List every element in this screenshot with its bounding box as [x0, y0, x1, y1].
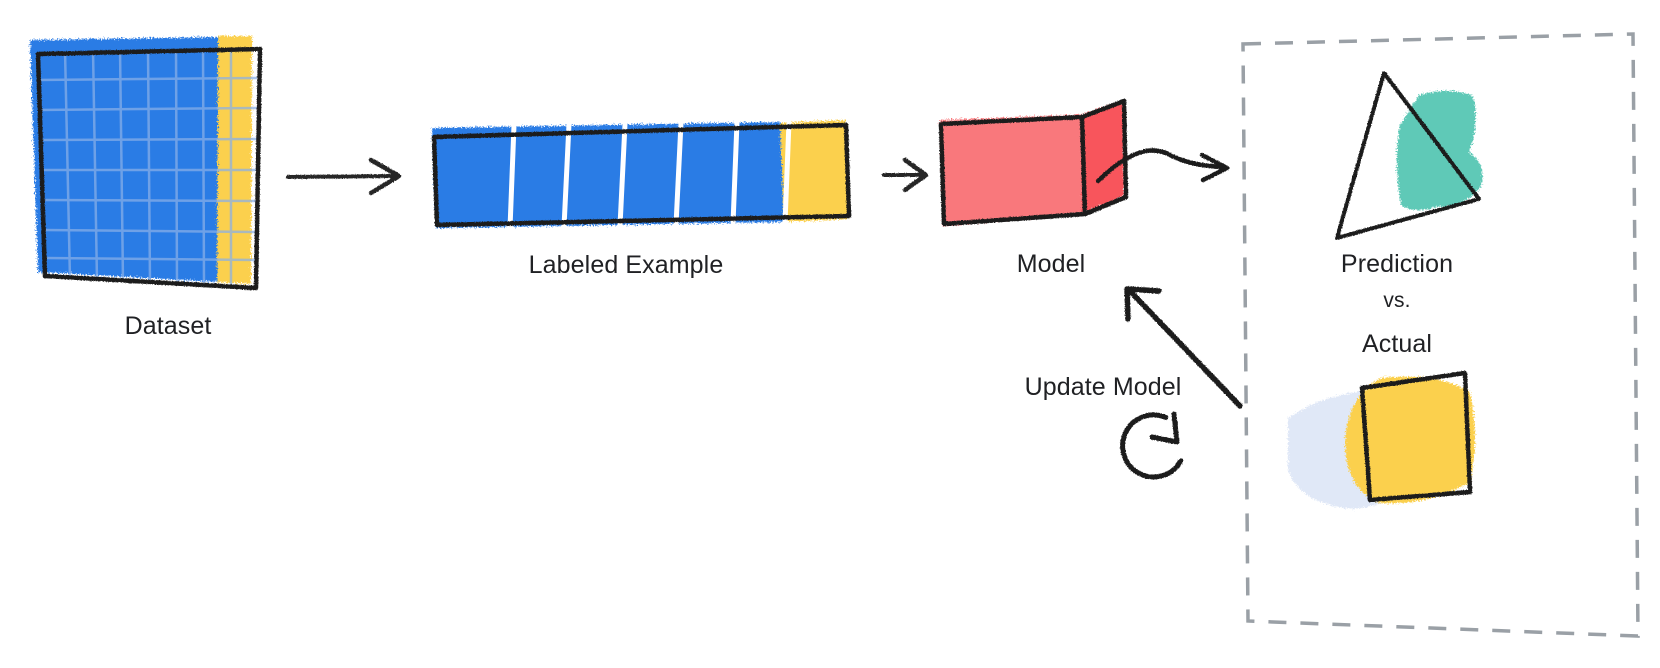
connector-dataset-to-labeled-example [288, 160, 399, 193]
actual-label: Actual [1362, 330, 1432, 359]
dataset-feature-fill [30, 37, 220, 282]
dataset-label: Dataset [125, 312, 212, 341]
labeled-example-label: Labeled Example [529, 251, 724, 280]
update-model-label: Update Model [1025, 373, 1182, 402]
diagram-canvas: Dataset Labeled Example Model Prediction… [0, 0, 1660, 668]
model-node[interactable] [940, 101, 1126, 226]
prediction-shape[interactable] [1337, 73, 1483, 238]
model-side-fill [1081, 101, 1124, 213]
model-label: Model [1017, 250, 1086, 279]
actual-shape[interactable] [1288, 373, 1475, 509]
vs-label: vs. [1383, 289, 1410, 313]
prediction-label: Prediction [1341, 250, 1453, 279]
dataset-node[interactable] [30, 36, 260, 288]
labeled-example-node[interactable] [432, 120, 849, 228]
loop-refresh-icon [1115, 410, 1184, 485]
dataset-label-column [217, 36, 252, 284]
connector-labeled-example-to-model [884, 160, 926, 190]
model-front-fill [940, 115, 1082, 226]
